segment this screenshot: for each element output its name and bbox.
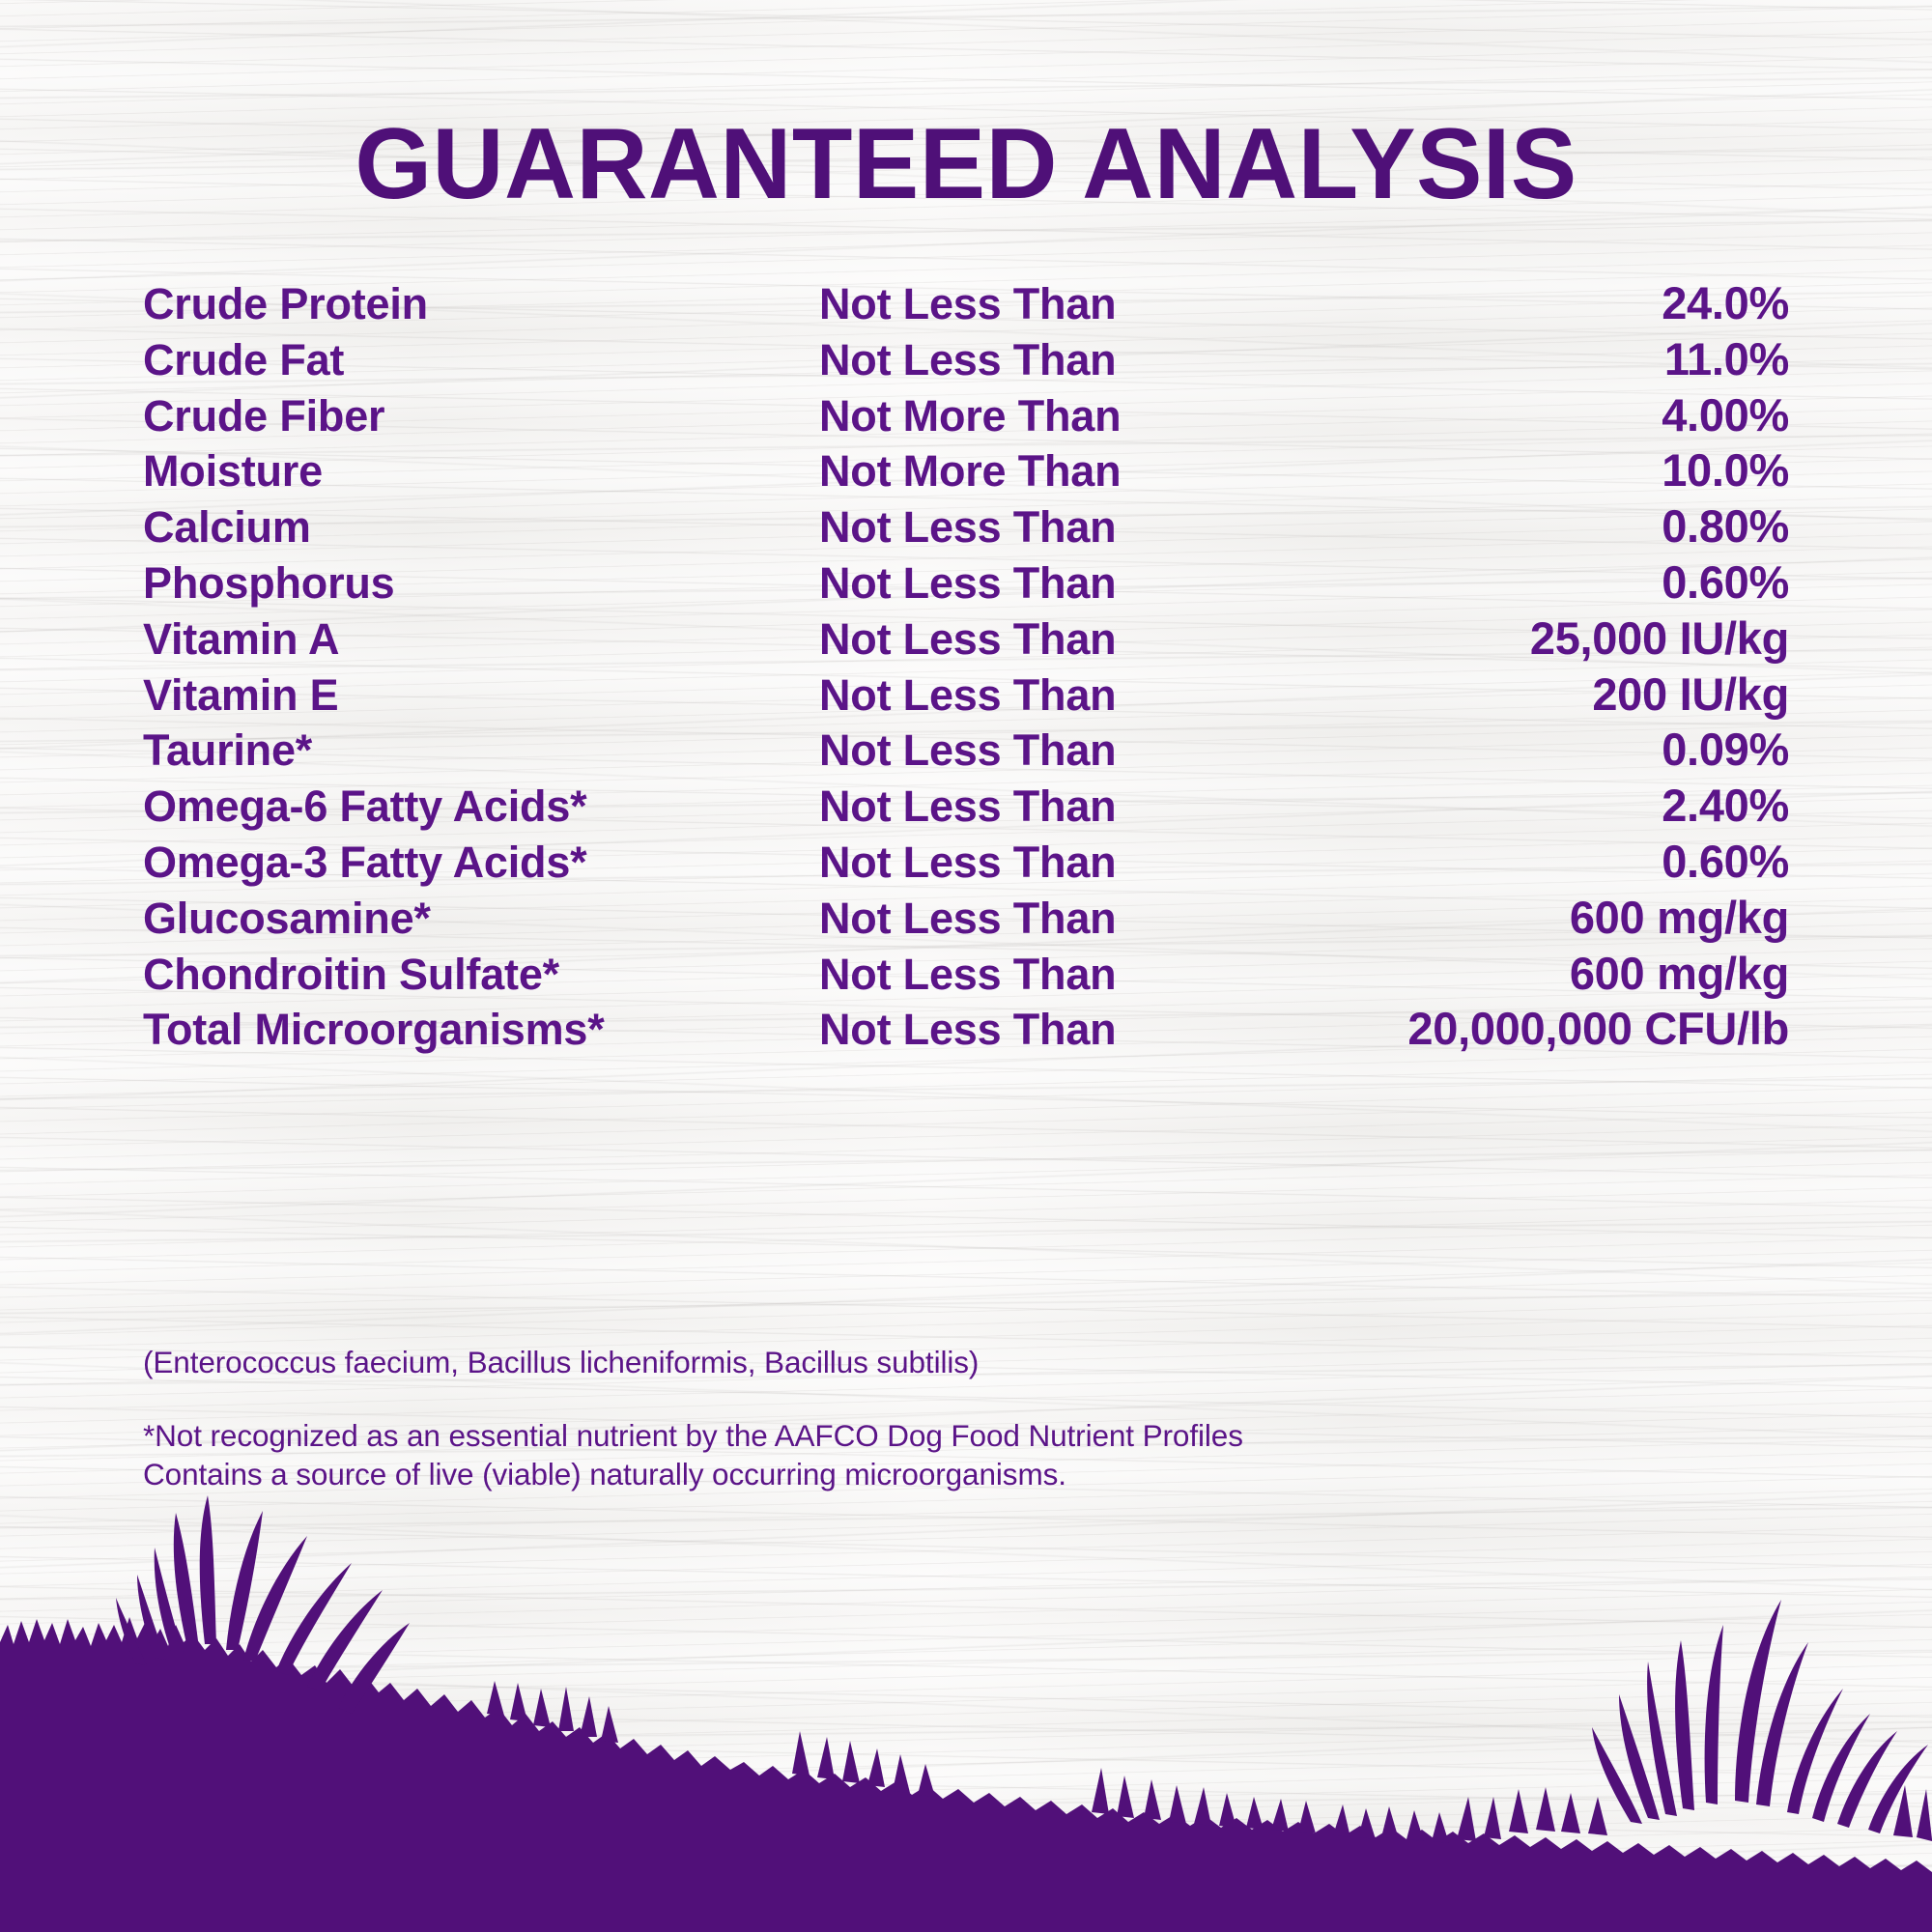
table-row: Vitamin ANot Less Than25,000 IU/kg <box>143 611 1789 668</box>
nutrient-qualifier: Not Less Than <box>819 558 1225 609</box>
nutrient-qualifier: Not Less Than <box>819 950 1225 1000</box>
table-row: Crude FiberNot More Than4.00% <box>143 388 1789 444</box>
nutrient-qualifier: Not Less Than <box>819 894 1225 944</box>
nutrient-qualifier: Not Less Than <box>819 502 1225 553</box>
page-title: GUARANTEED ANALYSIS <box>14 114 1918 214</box>
nutrient-name: Calcium <box>143 502 819 553</box>
microorganism-strains-note: (Enterococcus faecium, Bacillus lichenif… <box>143 1345 979 1380</box>
nutrient-value: 600 mg/kg <box>1225 947 1789 1000</box>
table-row: Crude FatNot Less Than11.0% <box>143 332 1789 388</box>
nutrient-name: Chondroitin Sulfate* <box>143 950 819 1000</box>
nutrient-value: 0.60% <box>1225 555 1789 609</box>
table-row: Chondroitin Sulfate*Not Less Than600 mg/… <box>143 947 1789 1003</box>
nutrient-name: Crude Fat <box>143 335 819 385</box>
nutrient-name: Crude Protein <box>143 279 819 329</box>
table-row: MoistureNot More Than10.0% <box>143 443 1789 499</box>
grass-silhouette <box>0 1478 1932 1932</box>
table-row: Vitamin ENot Less Than200 IU/kg <box>143 668 1789 724</box>
nutrient-value: 0.60% <box>1225 835 1789 888</box>
nutrient-qualifier: Not Less Than <box>819 614 1225 665</box>
nutrient-qualifier: Not Less Than <box>819 279 1225 329</box>
nutrient-value: 200 IU/kg <box>1225 668 1789 721</box>
nutrient-qualifier: Not Less Than <box>819 1005 1225 1055</box>
nutrient-name: Moisture <box>143 446 819 497</box>
nutrient-name: Vitamin E <box>143 670 819 721</box>
nutrient-name: Omega-3 Fatty Acids* <box>143 838 819 888</box>
nutrient-name: Phosphorus <box>143 558 819 609</box>
nutrient-qualifier: Not Less Than <box>819 781 1225 832</box>
nutrient-qualifier: Not More Than <box>819 391 1225 441</box>
nutrient-name: Taurine* <box>143 725 819 776</box>
nutrient-value: 24.0% <box>1225 276 1789 329</box>
table-row: Glucosamine*Not Less Than600 mg/kg <box>143 891 1789 947</box>
nutrient-qualifier: Not Less Than <box>819 725 1225 776</box>
table-row: Crude ProteinNot Less Than24.0% <box>143 276 1789 332</box>
guaranteed-analysis-table: Crude ProteinNot Less Than24.0%Crude Fat… <box>143 276 1789 1058</box>
guaranteed-analysis-panel: GUARANTEED ANALYSIS Crude ProteinNot Les… <box>0 0 1932 1932</box>
table-row: Omega-6 Fatty Acids*Not Less Than2.40% <box>143 779 1789 835</box>
nutrient-value: 10.0% <box>1225 443 1789 497</box>
nutrient-qualifier: Not More Than <box>819 446 1225 497</box>
nutrient-value: 20,000,000 CFU/lb <box>1225 1002 1789 1055</box>
nutrient-value: 4.00% <box>1225 388 1789 441</box>
nutrient-value: 2.40% <box>1225 779 1789 832</box>
nutrient-value: 0.80% <box>1225 499 1789 553</box>
table-row: Total Microorganisms*Not Less Than20,000… <box>143 1002 1789 1058</box>
nutrient-value: 11.0% <box>1225 332 1789 385</box>
table-row: CalciumNot Less Than0.80% <box>143 499 1789 555</box>
nutrient-name: Total Microorganisms* <box>143 1005 819 1055</box>
nutrient-name: Omega-6 Fatty Acids* <box>143 781 819 832</box>
nutrient-value: 25,000 IU/kg <box>1225 611 1789 665</box>
table-row: Taurine*Not Less Than0.09% <box>143 723 1789 779</box>
footnote-aafco: *Not recognized as an essential nutrient… <box>143 1416 1243 1455</box>
nutrient-name: Crude Fiber <box>143 391 819 441</box>
nutrient-qualifier: Not Less Than <box>819 335 1225 385</box>
nutrient-name: Glucosamine* <box>143 894 819 944</box>
nutrient-qualifier: Not Less Than <box>819 670 1225 721</box>
table-row: Omega-3 Fatty Acids*Not Less Than0.60% <box>143 835 1789 891</box>
nutrient-name: Vitamin A <box>143 614 819 665</box>
nutrient-value: 0.09% <box>1225 723 1789 776</box>
nutrient-value: 600 mg/kg <box>1225 891 1789 944</box>
nutrient-qualifier: Not Less Than <box>819 838 1225 888</box>
table-row: PhosphorusNot Less Than0.60% <box>143 555 1789 611</box>
